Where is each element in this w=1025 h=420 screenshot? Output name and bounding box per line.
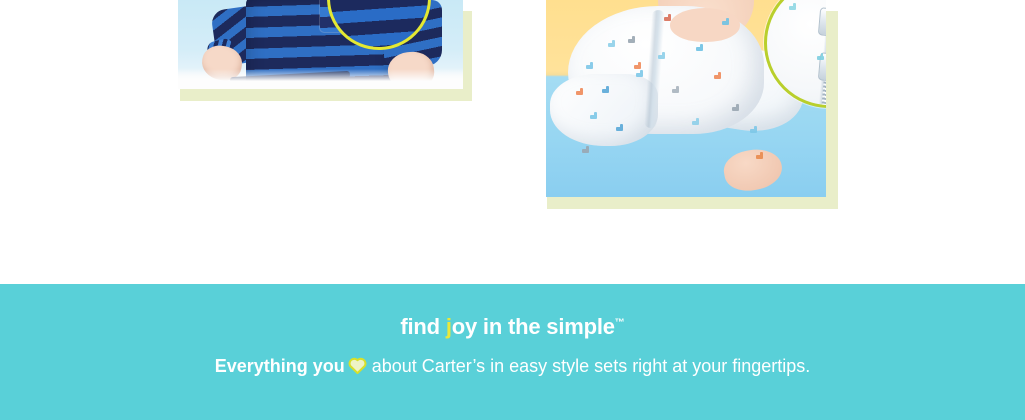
llama-motif	[672, 86, 679, 95]
llama-motif	[634, 62, 641, 71]
sleeper-leg	[550, 74, 658, 146]
subheading-bold-part: Everything you	[215, 356, 345, 376]
baby-chin	[670, 8, 740, 42]
left-product-photo-card[interactable]	[178, 0, 472, 101]
right-product-photo-card[interactable]	[546, 0, 838, 209]
llama-motif	[636, 70, 643, 79]
llama-motif	[586, 62, 593, 71]
llama-motif	[616, 124, 623, 133]
llama-motif	[714, 72, 721, 81]
llama-motif	[696, 44, 703, 53]
promo-page: find joy in the simple™ Everything youab…	[0, 0, 1025, 420]
left-photo-image[interactable]	[178, 0, 463, 89]
headline-part-after: oy in the simple	[452, 314, 615, 339]
llama-motif	[628, 36, 635, 45]
llama-motif	[602, 86, 609, 95]
llama-motif	[590, 112, 597, 121]
heart-icon	[348, 356, 367, 377]
llama-motif	[608, 40, 615, 49]
zipper-slider-top	[818, 7, 826, 37]
llama-motif	[756, 152, 763, 161]
right-photo-image[interactable]	[546, 0, 826, 197]
llama-motif	[576, 88, 583, 97]
llama-motif	[658, 52, 665, 61]
subheading-rest: about Carter’s in easy style sets right …	[372, 356, 811, 376]
banner-headline: find joy in the simple™	[0, 284, 1025, 338]
llama-motif	[664, 14, 671, 23]
llama-motif	[722, 18, 729, 27]
llama-motif	[582, 146, 589, 155]
left-photo-floor-edge	[178, 69, 463, 89]
llama-motif-zoomed	[789, 3, 809, 29]
llama-motif	[732, 104, 739, 113]
llama-motif-zoomed	[817, 53, 826, 71]
banner-content: find joy in the simple™ Everything youab…	[0, 284, 1025, 377]
llama-motif	[750, 126, 757, 135]
product-photo-region	[0, 0, 1025, 284]
llama-motif	[692, 118, 699, 127]
promo-banner: find joy in the simple™ Everything youab…	[0, 284, 1025, 420]
trademark-symbol: ™	[615, 318, 625, 329]
headline-part-before: find	[400, 314, 445, 339]
banner-subheading: Everything youabout Carter’s in easy sty…	[0, 338, 1025, 377]
